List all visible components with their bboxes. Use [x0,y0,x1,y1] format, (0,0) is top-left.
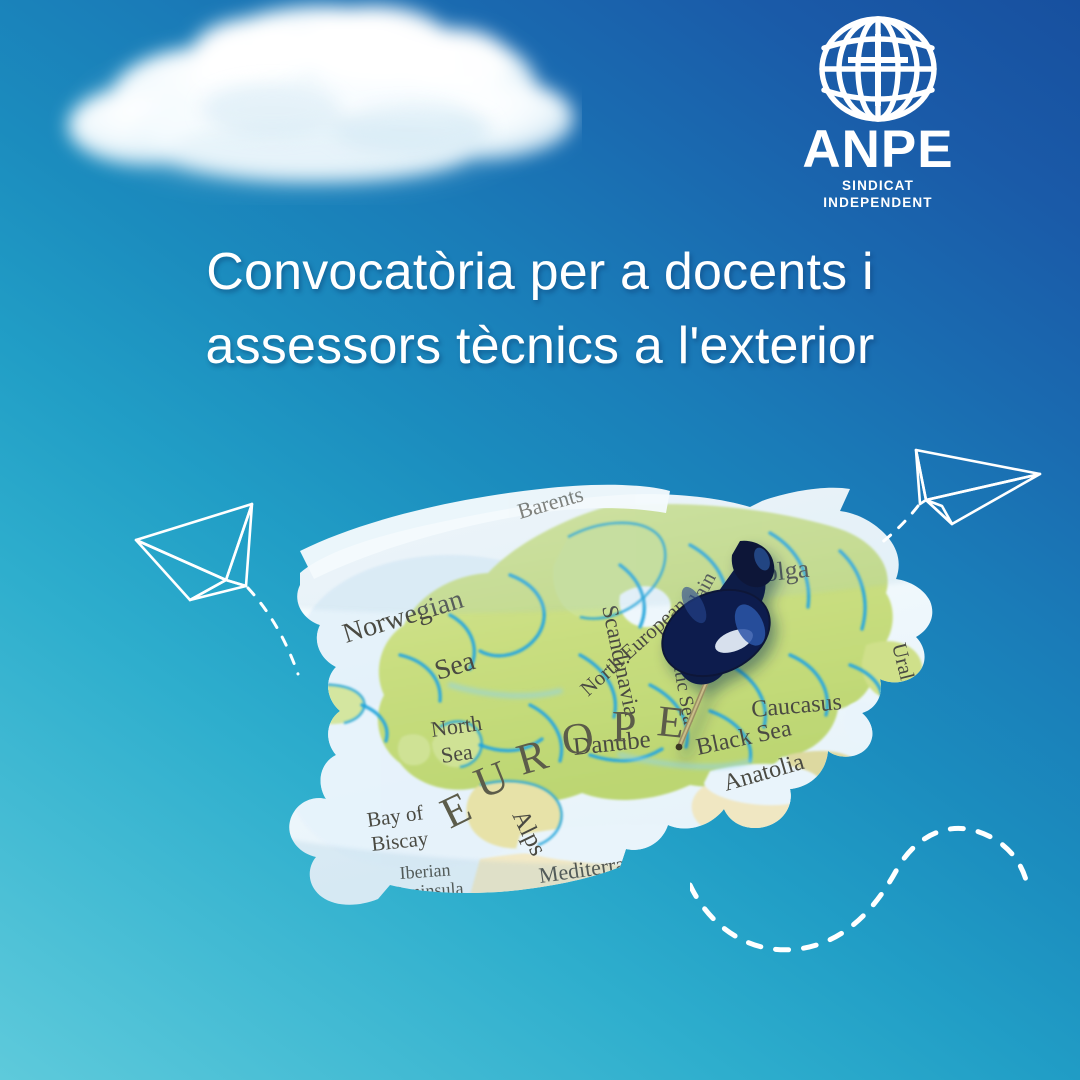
title-line-1: Convocatòria per a docents i [70,236,1010,310]
svg-text:O: O [559,712,599,765]
anpe-logo[interactable]: ANPE SINDICAT INDEPENDENT [788,14,968,212]
europe-map-cutout: Norwegian Sea Scandinavia Baltic Sea Ice… [150,455,950,975]
title-line-2: assessors tècnics a l'exterior [70,310,1010,384]
globe-icon [788,14,968,124]
logo-wordmark: ANPE [788,126,968,175]
poster-canvas: ANPE SINDICAT INDEPENDENT Convocatòria p… [0,0,1080,1080]
map-label-british-isles-1: British [251,724,325,773]
cloud-icon [22,0,582,205]
svg-text:P: P [612,702,638,751]
page-title: Convocatòria per a docents i assessors t… [0,236,1080,384]
logo-tagline: SINDICAT INDEPENDENT [788,178,968,212]
map-label-iceland: Iceland [184,692,269,740]
